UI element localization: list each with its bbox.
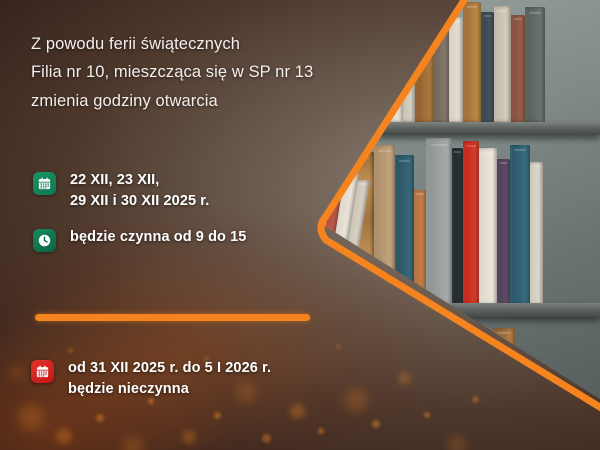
- closed-period-block: od 31 XII 2025 r. do 5 I 2026 r. będzie …: [31, 358, 361, 399]
- closed-dates-row: od 31 XII 2025 r. do 5 I 2026 r. będzie …: [31, 358, 361, 399]
- poster-canvas: Z powodu ferii świątecznych Filia nr 10,…: [0, 0, 600, 450]
- open-dates-row: 22 XII, 23 XII, 29 XII i 30 XII 2025 r.: [33, 170, 333, 211]
- section-divider: [35, 314, 310, 321]
- open-hours-text: będzie czynna od 9 do 15: [70, 227, 246, 248]
- calendar-icon: [31, 360, 54, 383]
- open-dates-line-2: 29 XII i 30 XII 2025 r.: [70, 191, 209, 212]
- opening-hours-block: 22 XII, 23 XII, 29 XII i 30 XII 2025 r. …: [33, 170, 333, 252]
- clock-icon: [33, 229, 56, 252]
- closed-line-1: od 31 XII 2025 r. do 5 I 2026 r.: [68, 358, 271, 379]
- open-dates-line-1: 22 XII, 23 XII,: [70, 170, 209, 191]
- headline-line-1: Z powodu ferii świątecznych: [31, 30, 361, 58]
- closed-line-2: będzie nieczynna: [68, 379, 271, 400]
- page-title: Z powodu ferii świątecznych Filia nr 10,…: [31, 30, 361, 115]
- open-dates-text: 22 XII, 23 XII, 29 XII i 30 XII 2025 r.: [70, 170, 209, 211]
- headline-line-3: zmienia godziny otwarcia: [31, 87, 361, 115]
- open-hours-row: będzie czynna od 9 do 15: [33, 227, 333, 252]
- headline-line-2: Filia nr 10, mieszcząca się w SP nr 13: [31, 58, 361, 86]
- open-hours-line: będzie czynna od 9 do 15: [70, 227, 246, 248]
- closed-dates-text: od 31 XII 2025 r. do 5 I 2026 r. będzie …: [68, 358, 271, 399]
- calendar-icon: [33, 172, 56, 195]
